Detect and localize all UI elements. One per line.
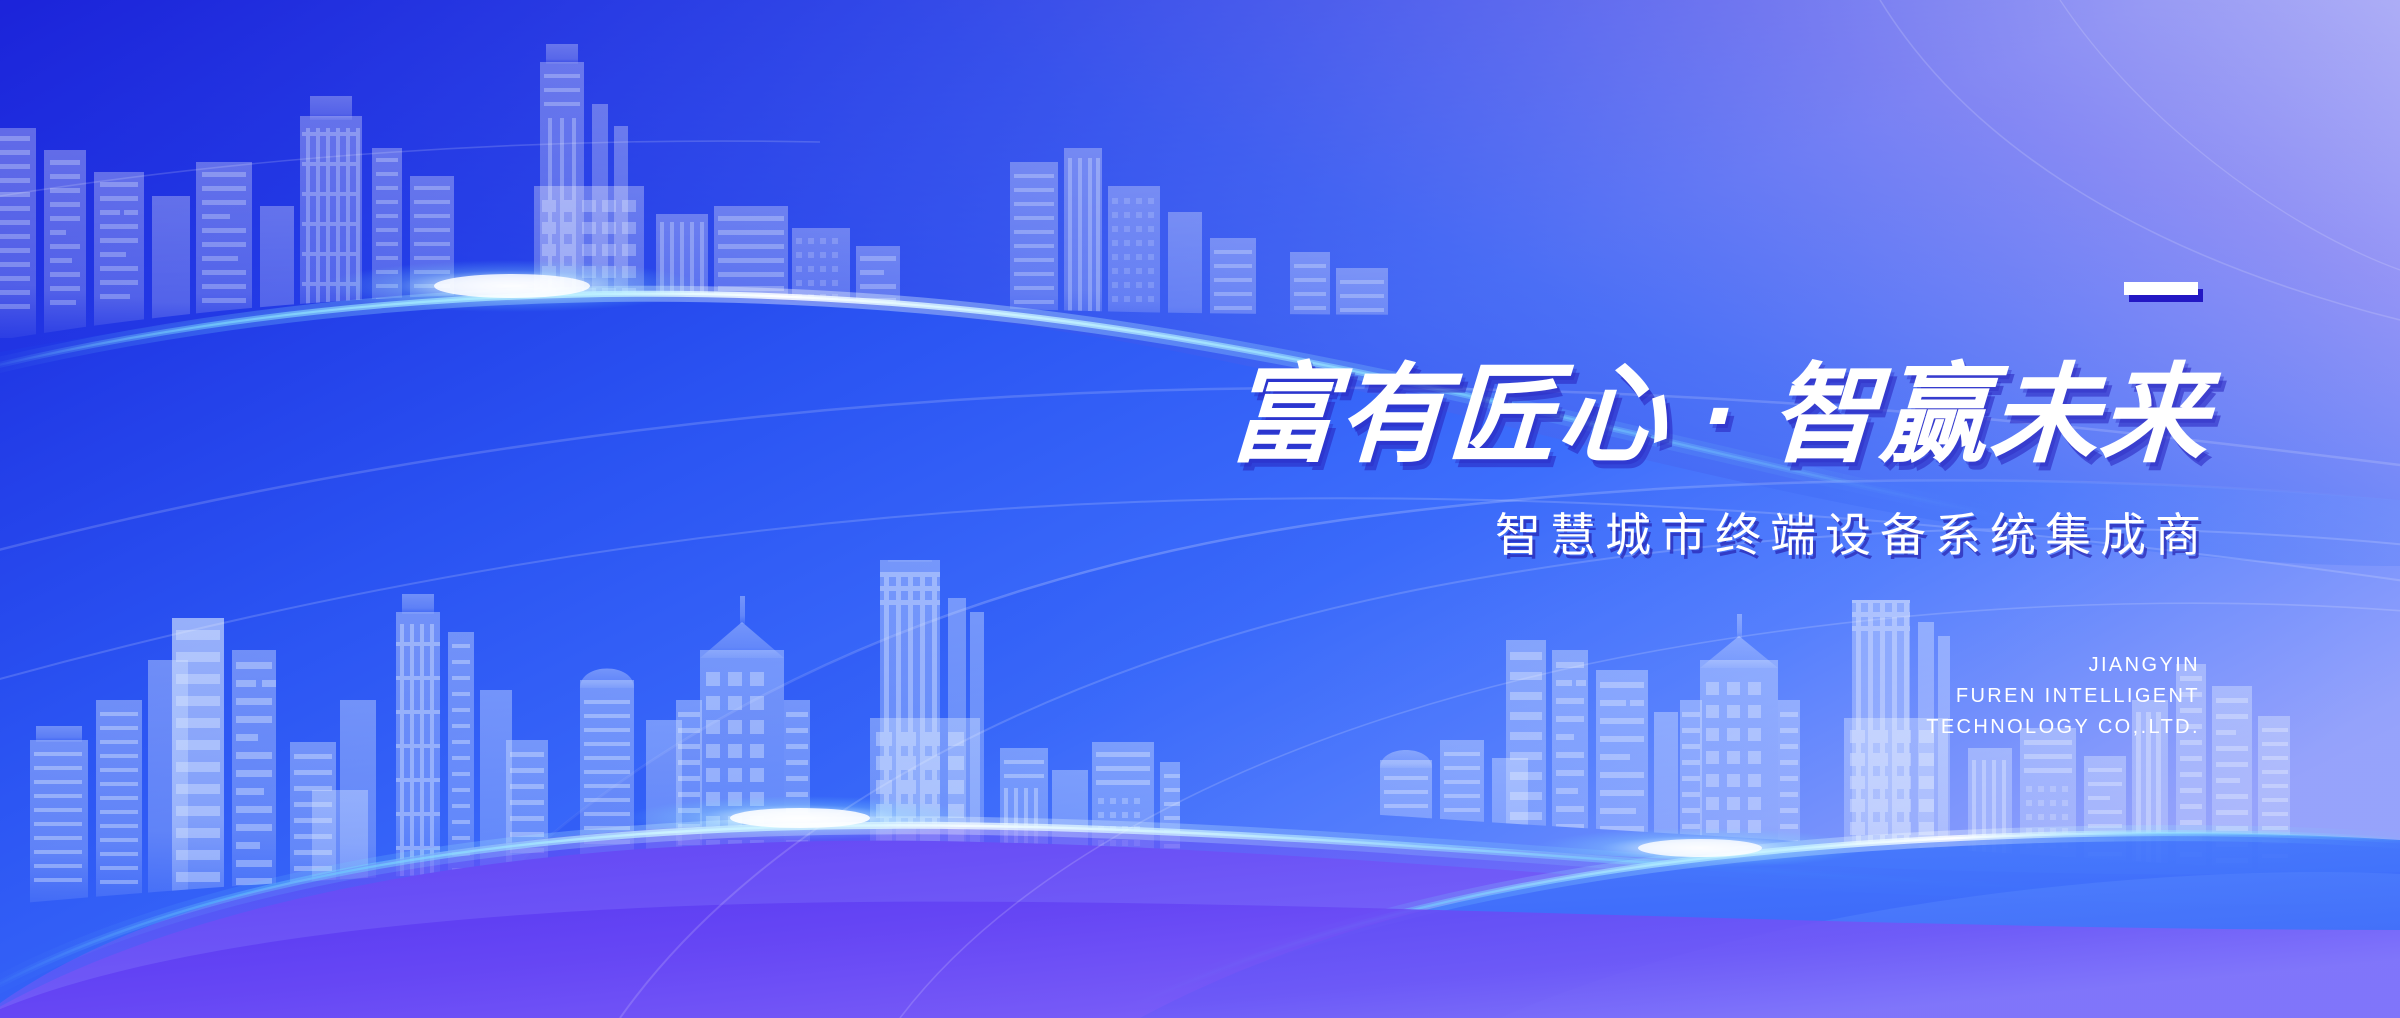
background-artwork (0, 0, 2400, 1018)
promotional-banner: 富有匠心 · 智赢未来 智慧城市终端设备系统集成商 JIANGYIN FUREN… (0, 0, 2400, 1018)
